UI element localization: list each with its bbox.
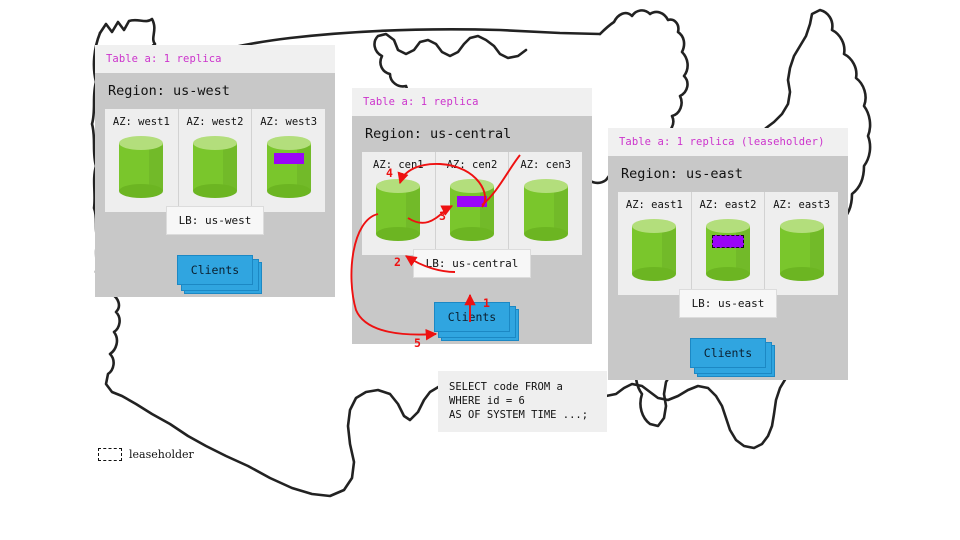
region-header-us-east: Table a: 1 replica (leaseholder) (608, 128, 848, 156)
load-balancer-us-west[interactable]: LB: us-west (166, 206, 265, 235)
region-body-us-central: Region: us-central AZ: cen1 AZ: cen2 (352, 116, 592, 344)
az-west1[interactable]: AZ: west1 (105, 109, 179, 212)
replica-cylinder-cen3[interactable] (524, 179, 568, 241)
region-body-us-east: Region: us-east AZ: east1 AZ: east2 (608, 156, 848, 380)
region-panel-us-east: Table a: 1 replica (leaseholder) Region:… (608, 128, 848, 380)
region-title-us-central: Region: us-central (362, 116, 582, 152)
clients-group-us-east: Clients (690, 338, 766, 368)
az-row-us-west: AZ: west1 AZ: west2 AZ: west3 (105, 109, 325, 212)
az-label-west3: AZ: west3 (260, 116, 317, 128)
leaseholder-swatch-icon (98, 448, 122, 461)
az-label-cen1: AZ: cen1 (373, 159, 424, 171)
region-panel-us-central: Table a: 1 replica Region: us-central AZ… (352, 88, 592, 344)
az-cen3[interactable]: AZ: cen3 (509, 152, 582, 255)
flow-step-3-label: 3 (439, 209, 446, 223)
az-label-cen2: AZ: cen2 (447, 159, 498, 171)
az-label-east1: AZ: east1 (626, 199, 683, 211)
az-label-west2: AZ: west2 (187, 116, 244, 128)
clients-group-us-west: Clients (177, 255, 253, 285)
az-row-us-central: AZ: cen1 AZ: cen2 AZ: cen3 (362, 152, 582, 255)
region-header-us-west: Table a: 1 replica (95, 45, 335, 73)
replica-cylinder-east2[interactable] (706, 219, 750, 281)
region-title-us-west: Region: us-west (105, 73, 325, 109)
region-body-us-west: Region: us-west AZ: west1 AZ: west2 AZ: … (95, 73, 335, 297)
replica-cylinder-east1[interactable] (632, 219, 676, 281)
replica-cylinder-west2[interactable] (193, 136, 237, 198)
flow-step-5-label: 5 (414, 336, 421, 350)
replica-cylinder-cen1[interactable] (376, 179, 420, 241)
az-label-east3: AZ: east3 (773, 199, 830, 211)
load-balancer-us-east[interactable]: LB: us-east (679, 289, 778, 318)
replica-cylinder-cen2[interactable] (450, 179, 494, 241)
sql-query-box: SELECT code FROM a WHERE id = 6 AS OF SY… (438, 371, 607, 432)
replica-band-west3 (274, 153, 304, 164)
clients-box-us-west[interactable]: Clients (177, 255, 253, 285)
flow-step-4-label: 4 (386, 166, 393, 180)
region-title-us-east: Region: us-east (618, 156, 838, 192)
clients-box-us-central[interactable]: Clients (434, 302, 510, 332)
az-label-east2: AZ: east2 (700, 199, 757, 211)
load-balancer-us-central[interactable]: LB: us-central (413, 249, 532, 278)
az-east2[interactable]: AZ: east2 (692, 192, 766, 295)
region-panel-us-west: Table a: 1 replica Region: us-west AZ: w… (95, 45, 335, 297)
replica-cylinder-west3[interactable] (267, 136, 311, 198)
az-label-west1: AZ: west1 (113, 116, 170, 128)
az-label-cen3: AZ: cen3 (520, 159, 571, 171)
az-west2[interactable]: AZ: west2 (179, 109, 253, 212)
clients-box-us-east[interactable]: Clients (690, 338, 766, 368)
az-east3[interactable]: AZ: east3 (765, 192, 838, 295)
region-header-us-central: Table a: 1 replica (352, 88, 592, 116)
flow-step-2-label: 2 (394, 255, 401, 269)
legend-label: leaseholder (129, 448, 194, 461)
legend: leaseholder (98, 448, 194, 461)
az-west3[interactable]: AZ: west3 (252, 109, 325, 212)
az-cen2[interactable]: AZ: cen2 (436, 152, 510, 255)
az-east1[interactable]: AZ: east1 (618, 192, 692, 295)
replica-cylinder-west1[interactable] (119, 136, 163, 198)
replica-cylinder-east3[interactable] (780, 219, 824, 281)
flow-step-1-label: 1 (483, 296, 490, 310)
diagram-canvas: Table a: 1 replica Region: us-west AZ: w… (0, 0, 960, 540)
leaseholder-band-east2 (712, 235, 744, 248)
az-cen1[interactable]: AZ: cen1 (362, 152, 436, 255)
replica-band-cen2 (457, 196, 487, 207)
az-row-us-east: AZ: east1 AZ: east2 AZ: east3 (618, 192, 838, 295)
clients-group-us-central: Clients (434, 302, 510, 332)
